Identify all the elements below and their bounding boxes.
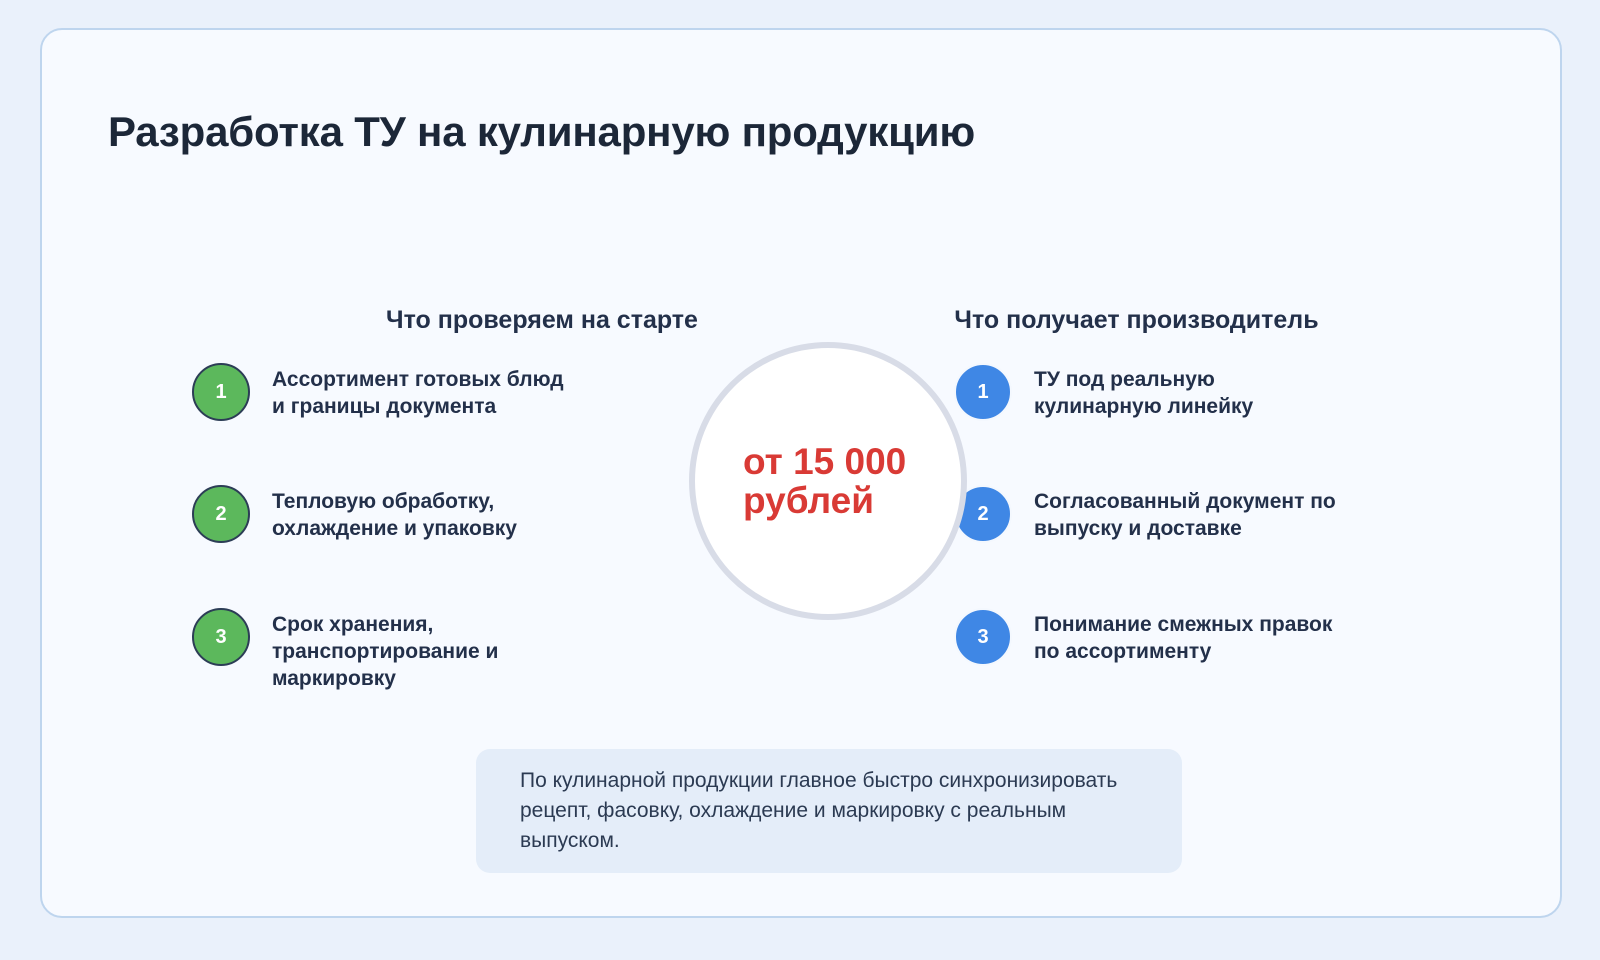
- number-badge-blue-3: 3: [954, 608, 1012, 666]
- left-column-heading: Что проверяем на старте: [327, 306, 757, 335]
- left-list-item-1: 1 Ассортимент готовых блюд и границы док…: [192, 363, 622, 421]
- left-list-item-2-label: Тепловую обработку, охлаждение и упаковк…: [272, 489, 517, 543]
- right-list-item-2-label: Согласованный документ по выпуску и дост…: [1034, 489, 1336, 543]
- left-list-item-2: 2 Тепловую обработку, охлаждение и упако…: [192, 485, 622, 543]
- right-column-heading: Что получает производитель: [914, 306, 1359, 335]
- price-label: от 15 000 рублей: [743, 442, 913, 520]
- number-badge-blue-1: 1: [954, 363, 1012, 421]
- right-list-item-1: 1 ТУ под реальную кулинарную линейку: [954, 363, 1404, 421]
- left-list-item-3: 3 Срок хранения, транспортирование и мар…: [192, 608, 622, 693]
- left-list-item-1-label: Ассортимент готовых блюд и границы докум…: [272, 367, 564, 421]
- right-list-item-1-label: ТУ под реальную кулинарную линейку: [1034, 367, 1253, 421]
- right-list-item-2: 2 Согласованный документ по выпуску и до…: [954, 485, 1404, 543]
- left-list-item-3-label: Срок хранения, транспортирование и марки…: [272, 612, 498, 693]
- price-circle: от 15 000 рублей: [689, 342, 967, 620]
- right-list-item-3-label: Понимание смежных правок по ассортименту: [1034, 612, 1332, 666]
- number-badge-green-3: 3: [192, 608, 250, 666]
- page-title: Разработка ТУ на кулинарную продукцию: [108, 106, 988, 157]
- right-list-item-3: 3 Понимание смежных правок по ассортимен…: [954, 608, 1404, 666]
- note-text: По кулинарной продукции главное быстро с…: [476, 766, 1182, 855]
- note-box: По кулинарной продукции главное быстро с…: [476, 749, 1182, 873]
- number-badge-green-2: 2: [192, 485, 250, 543]
- number-badge-green-1: 1: [192, 363, 250, 421]
- main-card: Разработка ТУ на кулинарную продукцию Чт…: [40, 28, 1562, 918]
